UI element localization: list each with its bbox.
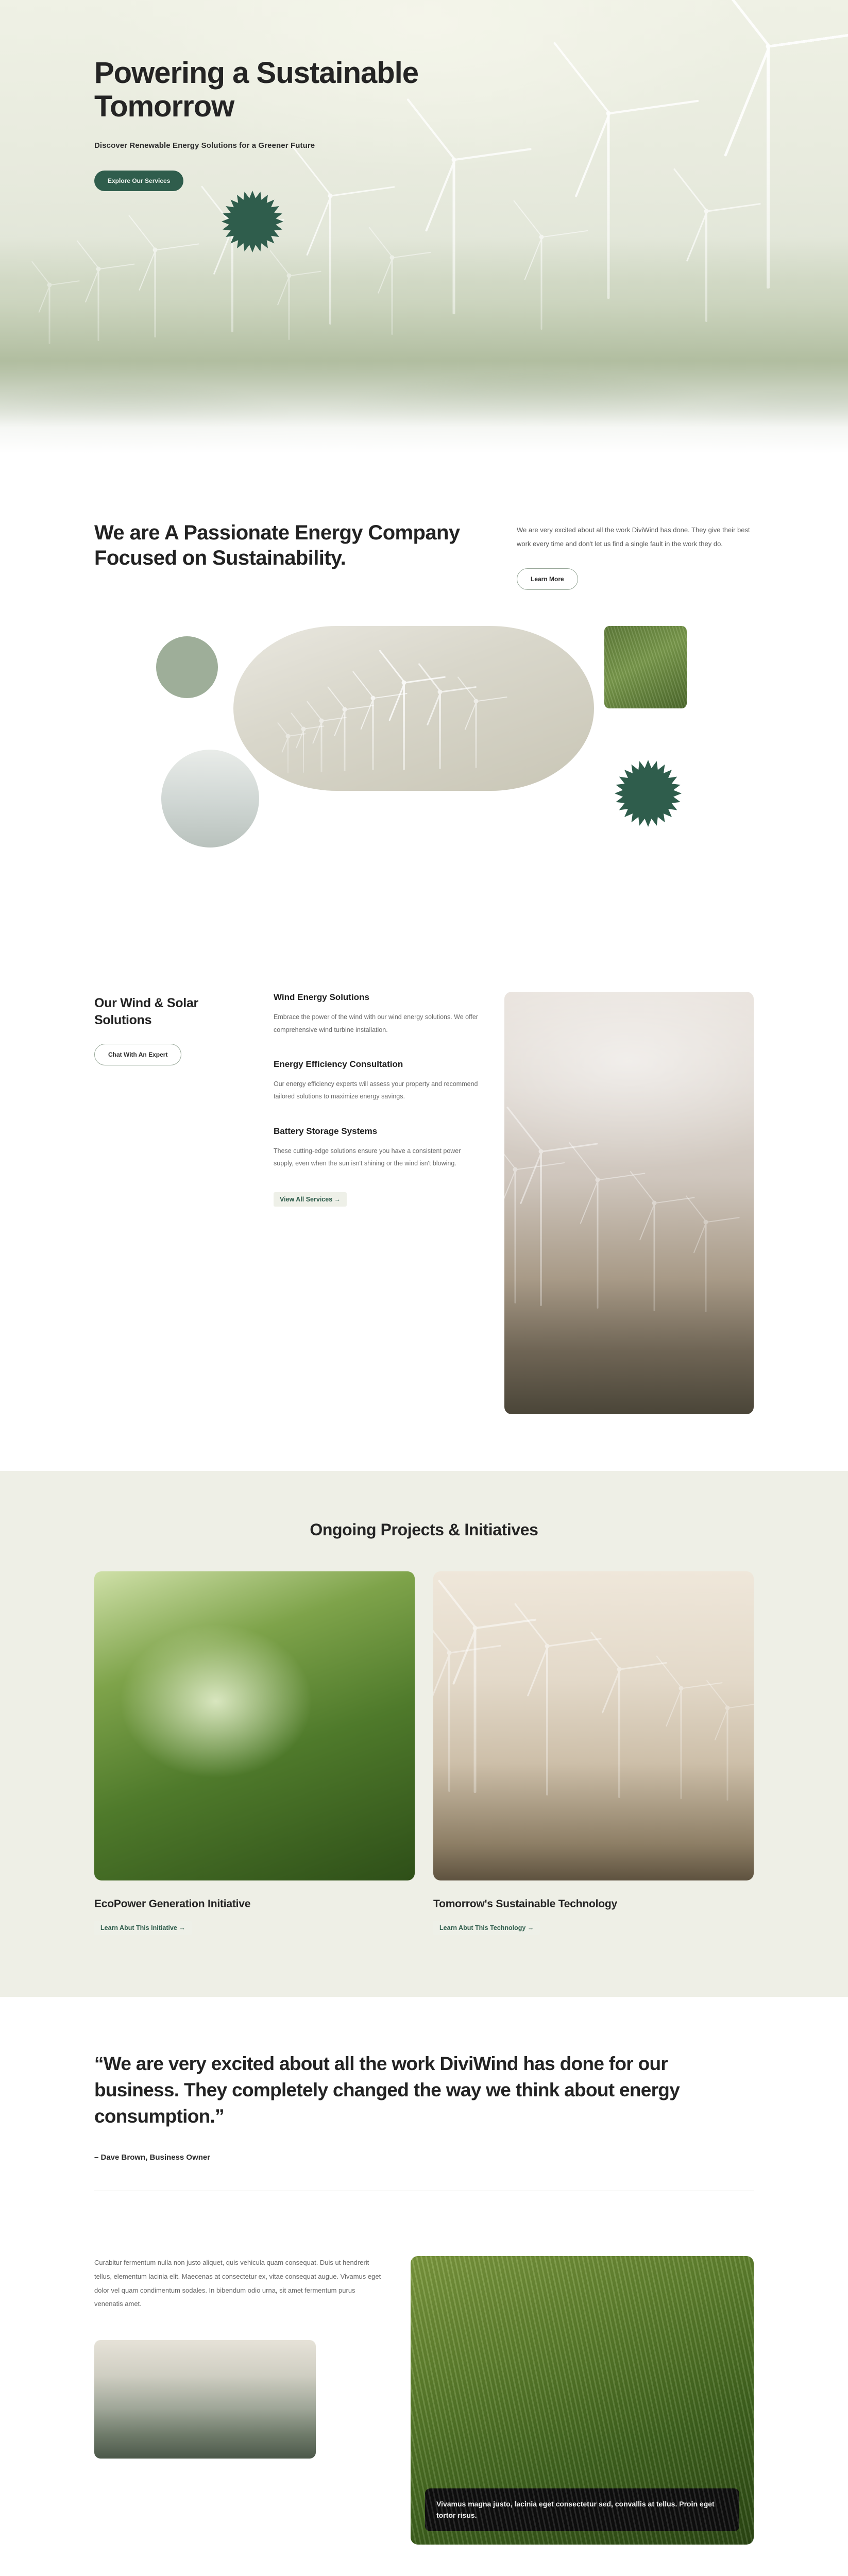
wind-turbine-icon — [287, 736, 289, 773]
wind-turbine-icon — [344, 709, 345, 771]
wind-turbine-icon — [727, 1708, 728, 1801]
project-link[interactable]: Learn Abut This Technology → — [433, 1921, 540, 1935]
wind-turbine-icon — [330, 196, 331, 325]
solution-item: Wind Energy Solutions Embrace the power … — [274, 992, 480, 1036]
project-title: Tomorrow's Sustainable Technology — [433, 1898, 754, 1910]
about-section: We are A Passionate Energy Company Focus… — [94, 453, 754, 930]
projects-heading: Ongoing Projects & Initiatives — [94, 1520, 754, 1539]
wind-turbine-icon — [619, 1669, 620, 1798]
projects-section: Ongoing Projects & Initiatives EcoPower … — [0, 1471, 848, 1997]
about-paragraph: We are very excited about all the work D… — [517, 523, 754, 551]
wind-turbine-icon — [439, 692, 440, 769]
wind-turbine-icon — [303, 729, 304, 773]
wind-turbine-icon — [289, 276, 290, 340]
wind-turbine-icon — [597, 1180, 598, 1309]
starburst-icon — [615, 760, 682, 827]
solutions-heading: Our Wind & Solar Solutions — [94, 995, 249, 1028]
solution-body: Our energy efficiency experts will asses… — [274, 1078, 480, 1103]
wind-turbine-icon — [654, 1203, 655, 1311]
wind-turbine-icon — [49, 285, 50, 344]
story-section: Curabitur fermentum nulla non justo aliq… — [94, 2225, 754, 2576]
landing-page: Powering a Sustainable Tomorrow Discover… — [0, 0, 848, 2576]
divider — [94, 2191, 754, 2191]
solution-title: Energy Efficiency Consultation — [274, 1059, 480, 1071]
wind-turbine-icon — [449, 1653, 450, 1792]
project-image-technology — [433, 1571, 754, 1880]
solution-title: Wind Energy Solutions — [274, 992, 480, 1004]
grass-photo: Vivamus magna justo, lacinia eget consec… — [411, 2256, 754, 2545]
hero-title: Powering a Sustainable Tomorrow — [94, 57, 424, 124]
view-all-services-link[interactable]: View All Services → — [274, 1192, 347, 1207]
grass-square-image — [604, 626, 687, 708]
solution-item: Battery Storage Systems These cutting-ed… — [274, 1126, 480, 1170]
wind-turbine-icon — [706, 211, 707, 322]
learn-more-button[interactable]: Learn More — [517, 568, 578, 590]
about-heading: We are A Passionate Energy Company Focus… — [94, 520, 486, 571]
wind-turbine-icon — [547, 1646, 548, 1795]
explore-services-button[interactable]: Explore Our Services — [94, 171, 183, 191]
project-link[interactable]: Learn Abut This Initiative → — [94, 1921, 192, 1935]
hero-section: Powering a Sustainable Tomorrow Discover… — [0, 0, 848, 453]
solutions-section: Our Wind & Solar Solutions Chat With An … — [94, 930, 754, 1471]
solution-body: These cutting-edge solutions ensure you … — [274, 1145, 480, 1170]
solution-title: Battery Storage Systems — [274, 1126, 480, 1138]
project-image-ecopower — [94, 1571, 415, 1880]
turbine-field-image — [233, 626, 594, 791]
testimonial-section: “We are very excited about all the work … — [94, 1997, 754, 2225]
solution-body: Embrace the power of the wind with our w… — [274, 1011, 480, 1036]
olive-circle-decoration — [156, 636, 218, 698]
photo-turbines — [504, 992, 754, 1414]
testimonial-author: – Dave Brown, Business Owner — [94, 2153, 754, 2162]
hero-subtitle: Discover Renewable Energy Solutions for … — [94, 141, 754, 150]
testimonial-quote: “We are very excited about all the work … — [94, 2050, 713, 2129]
mountain-image — [94, 2340, 316, 2459]
hero-fade — [0, 361, 848, 453]
wind-turbine-icon — [372, 698, 374, 770]
wind-turbine-icon — [681, 1688, 682, 1799]
project-title: EcoPower Generation Initiative — [94, 1898, 415, 1910]
wind-turbine-icon — [321, 721, 322, 772]
story-paragraph: Curabitur fermentum nulla non justo aliq… — [94, 2256, 383, 2311]
wind-turbine-icon — [403, 683, 404, 770]
solution-item: Energy Efficiency Consultation Our energ… — [274, 1059, 480, 1103]
starburst-icon — [222, 191, 283, 252]
wind-turbine-icon — [705, 1222, 706, 1312]
wind-turbine-icon — [768, 46, 769, 289]
wind-turbine-icon — [541, 237, 542, 330]
photo-caption: Vivamus magna justo, lacinia eget consec… — [425, 2488, 739, 2531]
wind-turbine-icon — [540, 1151, 541, 1306]
misty-circle-image — [161, 750, 259, 848]
wind-turbine-icon — [155, 250, 156, 337]
project-card: EcoPower Generation Initiative Learn Abu… — [94, 1571, 415, 1935]
project-card: Tomorrow's Sustainable Technology Learn … — [433, 1571, 754, 1935]
solutions-list: Wind Energy Solutions Embrace the power … — [274, 992, 480, 1207]
wind-turbine-icon — [515, 1170, 516, 1303]
wind-turbine-icon — [476, 701, 477, 768]
wind-turbine-icon — [474, 1628, 476, 1793]
wind-turbine-icon — [392, 258, 393, 335]
wind-turbine-icon — [98, 269, 99, 341]
wind-farm-photo — [504, 992, 754, 1414]
chat-with-expert-button[interactable]: Chat With An Expert — [94, 1044, 181, 1065]
image-collage — [94, 621, 754, 909]
